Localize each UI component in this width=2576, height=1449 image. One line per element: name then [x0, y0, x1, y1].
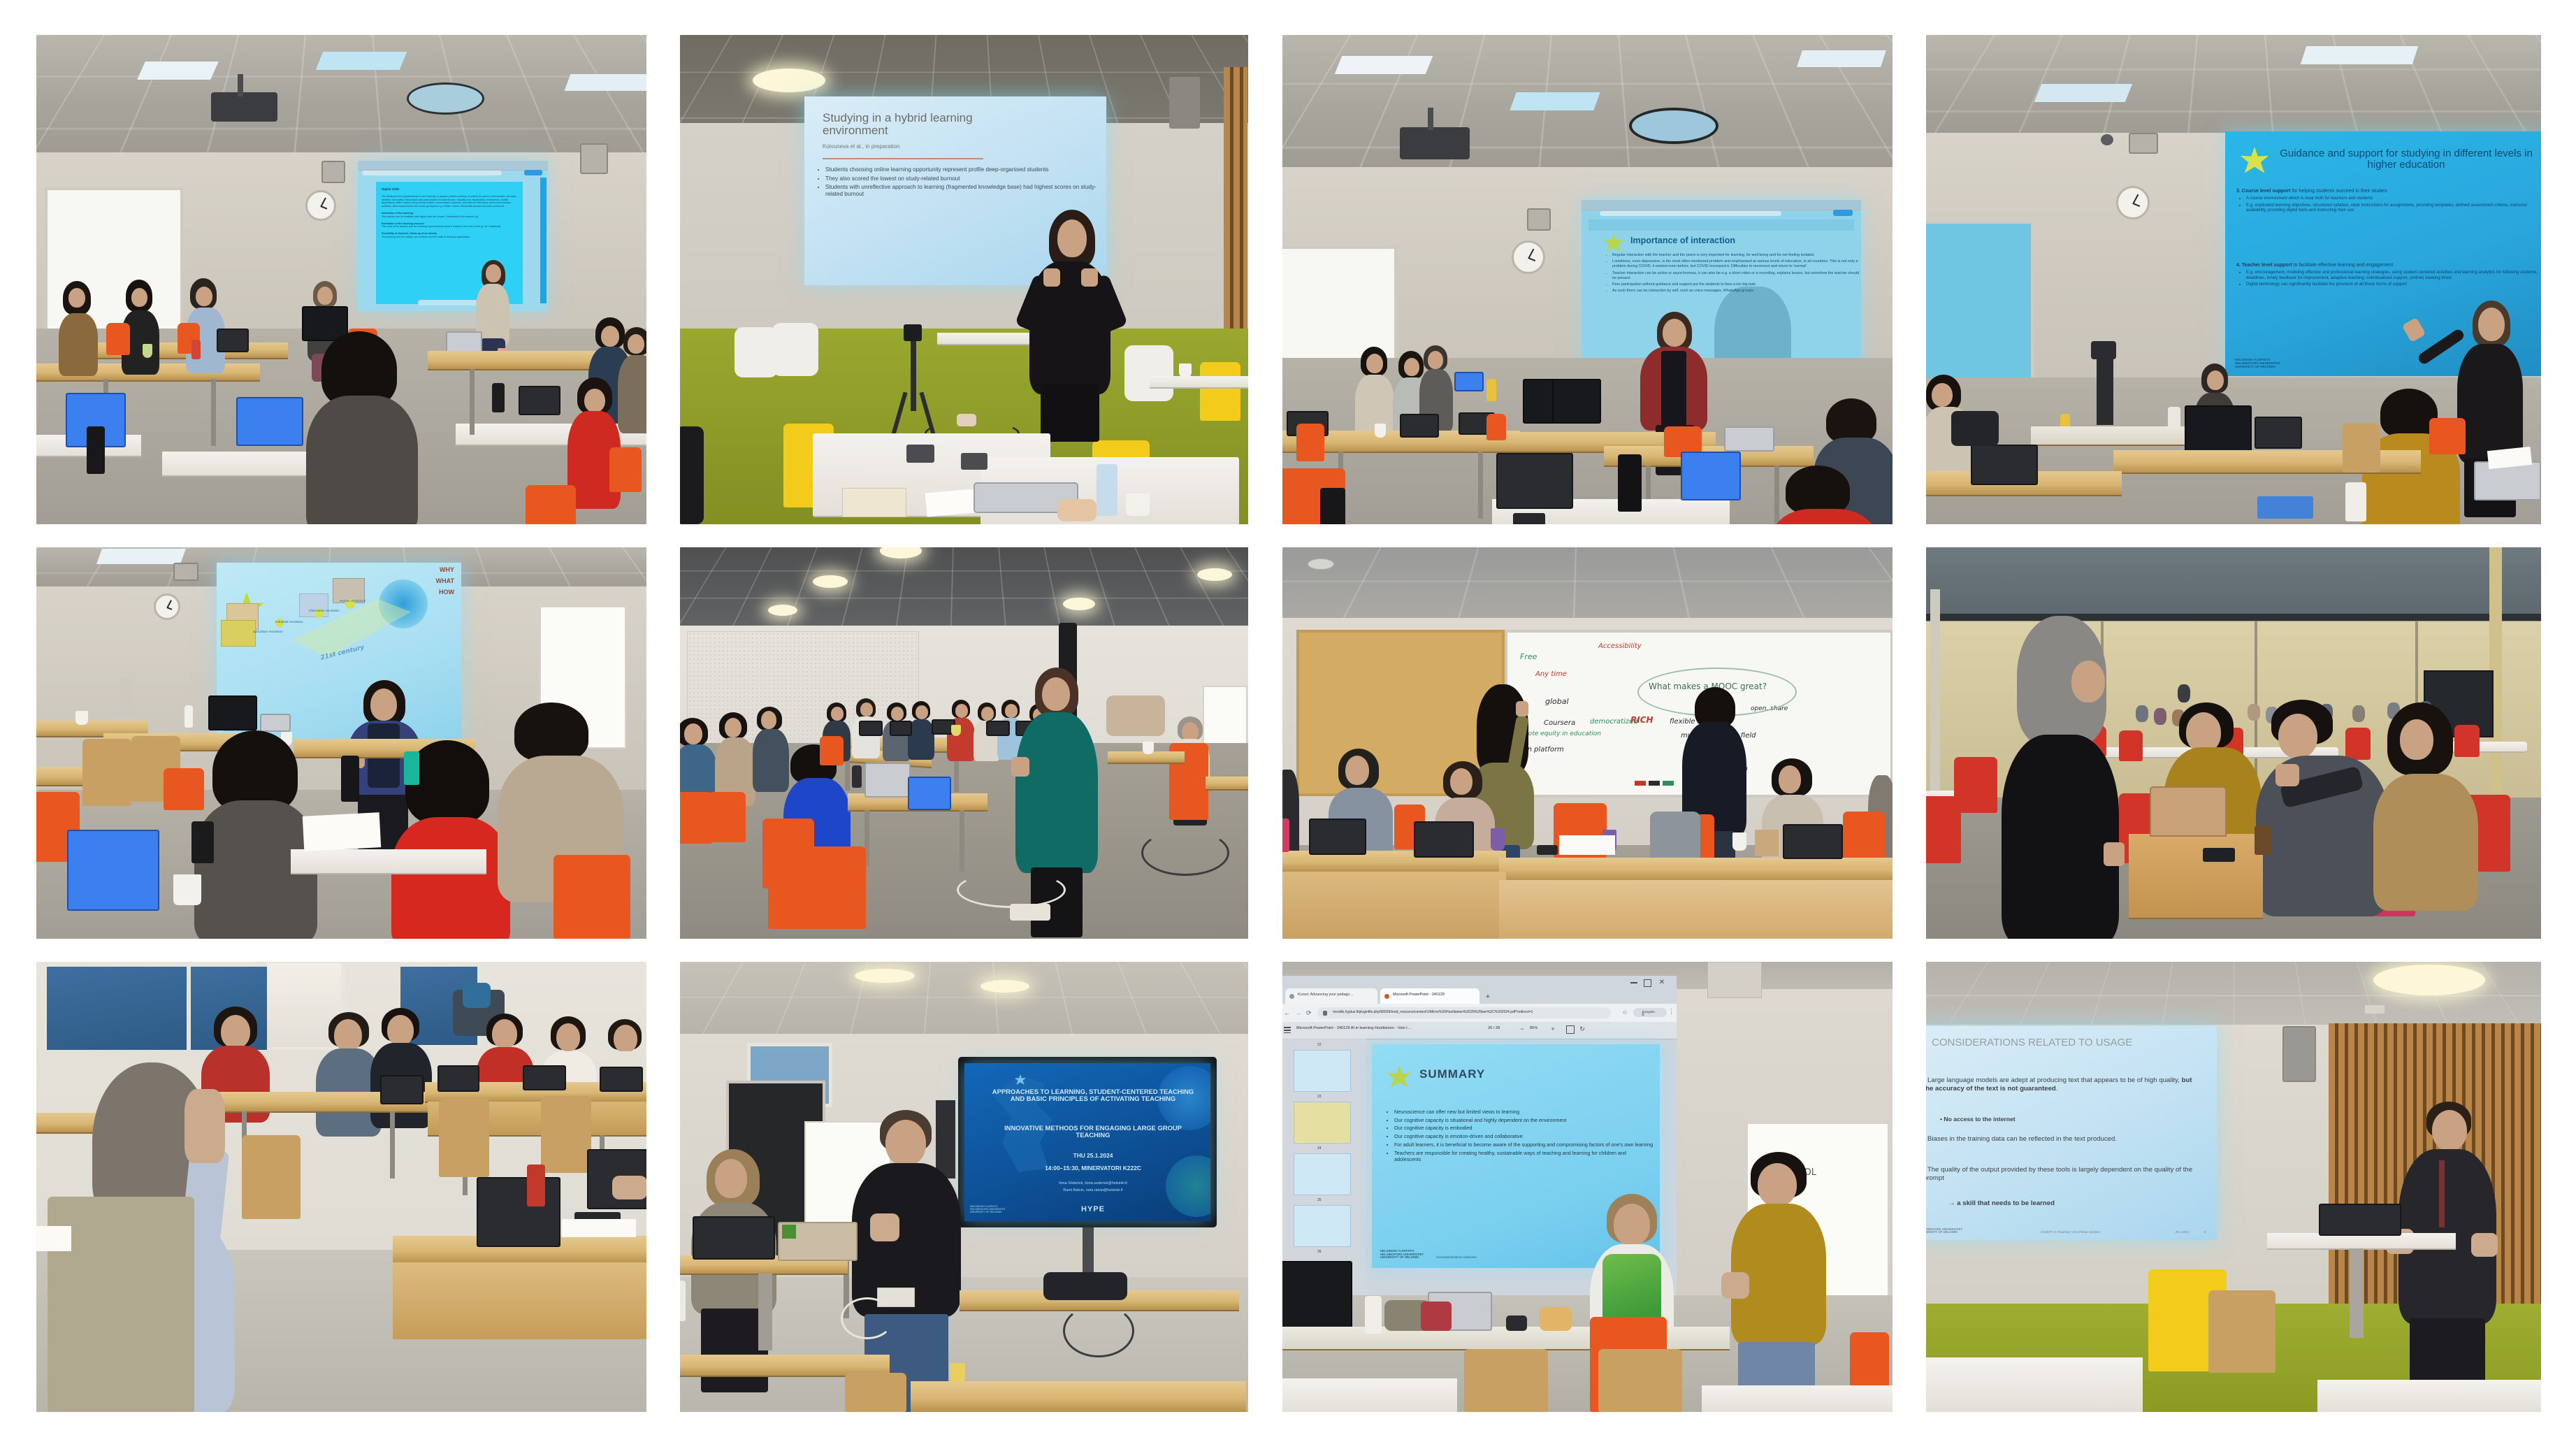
browser-action-button [1833, 210, 1853, 216]
maximize-icon[interactable] [1644, 979, 1651, 987]
photo-cell-r1c3[interactable]: Importance of interaction Regular intera… [1282, 35, 1893, 524]
marker [1649, 781, 1660, 786]
incognito-badge: Incognito [1633, 1008, 1667, 1017]
photo-cell-r1c2[interactable]: Studying in a hybrid learning environmen… [680, 35, 1248, 524]
browser-omnibox [362, 171, 502, 175]
photo-cell-r2c3[interactable]: Free Accessibility Any time global Cours… [1282, 547, 1893, 939]
document-camera [2097, 349, 2113, 425]
ceiling-lamp [768, 605, 797, 616]
zoom-out-button[interactable]: − [1519, 1025, 1526, 1032]
slide-bullet-3: • Biases in the training data can be ref… [1926, 1135, 2203, 1144]
laptop[interactable] [1309, 819, 1366, 855]
chair [1200, 362, 1240, 421]
ceiling-lamp [813, 575, 848, 588]
seated-participant [2373, 702, 2478, 905]
person-edge [680, 426, 704, 524]
chair [526, 485, 576, 524]
crowd-person [2178, 684, 2190, 702]
hybrid-learning-presenter: Studying in a hybrid learning environmen… [680, 35, 1248, 524]
projector-mount [1428, 108, 1433, 130]
whiteboard-note: Free [1520, 652, 1537, 661]
guidance-support-presenter: Guidance and support for studying in dif… [1926, 35, 2541, 524]
slide-title: Studying in a hybrid learning environmen… [823, 112, 1011, 138]
desk-panel [1499, 880, 1893, 939]
cup [1179, 363, 1192, 377]
chair [768, 846, 866, 929]
bookmark-icon[interactable]: ☆ [1622, 1009, 1629, 1016]
slide-bullets: Neuroscience can offer new but limited v… [1382, 1109, 1654, 1165]
download-icon[interactable]: ⤓ [1642, 1009, 1649, 1016]
laptop[interactable] [1783, 824, 1843, 859]
slide-page-number: 9 [2204, 1231, 2206, 1234]
chair [439, 1099, 489, 1177]
wall-clock [305, 190, 336, 221]
scrollbar[interactable] [540, 178, 547, 303]
slide-section-2: 4. Teacher level support to facilitate e… [2236, 263, 2541, 289]
desk-front [1702, 1385, 1893, 1412]
sticker [782, 1225, 796, 1239]
slide-footer-left: HELSINGFORS UNIVERSITET UNIVERSITY OF HE… [1926, 1228, 1962, 1235]
wall-speaker [173, 563, 198, 581]
classroom-raised-hand [36, 962, 646, 1412]
bottle [527, 1165, 545, 1206]
photo-cell-r2c2[interactable] [680, 547, 1248, 939]
participant [1731, 1152, 1826, 1412]
new-tab-button[interactable]: + [1484, 993, 1492, 1001]
cup [1375, 424, 1386, 438]
display-time-place: 14:00–15:30, MINERVATORI K222C [988, 1165, 1198, 1172]
thumb-photo [299, 593, 328, 617]
tab-favicon [1289, 994, 1294, 999]
hype-session-display: APPROACHES TO LEARNING, STUDENT-CENTERED… [680, 962, 1248, 1412]
tablet[interactable] [2257, 496, 2313, 519]
desk-panel [393, 1262, 646, 1339]
chair [1296, 424, 1324, 461]
projector [1400, 127, 1470, 159]
phone [2203, 848, 2235, 862]
ceiling-light [2034, 84, 2133, 102]
crowd-person [2136, 705, 2148, 722]
slide-bullets: Students choosing online learning opport… [814, 166, 1098, 200]
standing-participant [2002, 616, 2119, 937]
ceiling [680, 547, 1248, 633]
pdf-title: Microsoft PowerPoint - 240129 AI in lear… [1296, 1026, 1411, 1030]
laptop[interactable] [67, 830, 159, 911]
slide-section-1: 3. Course level support for helping stud… [2236, 189, 2541, 215]
window [43, 963, 190, 1058]
display-bezel[interactable]: APPROACHES TO LEARNING, STUDENT-CENTERED… [958, 1057, 1217, 1227]
ceiling-lamp [1197, 568, 1232, 581]
cable [841, 1297, 894, 1339]
cable [1063, 1304, 1134, 1357]
cup [1491, 828, 1505, 851]
forward-icon[interactable]: → [1295, 1009, 1302, 1016]
laptop[interactable] [693, 1216, 775, 1260]
zoom-in-button[interactable]: + [1549, 1025, 1556, 1032]
close-icon[interactable]: ✕ [1658, 979, 1665, 986]
photo-cell-r3c1[interactable] [36, 962, 646, 1412]
chair [708, 792, 746, 842]
upper-balcony [1926, 547, 2541, 618]
whiteboard-note: RICH [1630, 715, 1654, 725]
node-label: Human revolution! [340, 599, 366, 603]
section-rest: to facilitate effective learning and eng… [2294, 263, 2394, 268]
cable [957, 872, 1066, 908]
display-presenter: Rami Ratvio, rami.ratvio@helsinki.fi [988, 1189, 1198, 1193]
wall-clock [2116, 186, 2150, 219]
display-brand: HYPE [988, 1206, 1198, 1214]
slide-footer: HELSINGIN YLIOPISTO HELSINGFORS UNIVERSI… [1380, 1250, 1424, 1260]
whiteboard-mooc-brainstorm: Free Accessibility Any time global Cours… [1282, 547, 1893, 939]
browser-tab[interactable]: Microsoft PowerPoint - 240129 [1380, 988, 1479, 1004]
laptop[interactable] [2255, 417, 2302, 449]
corner-label-how: HOW [439, 589, 454, 596]
book [842, 488, 906, 517]
laptop[interactable] [1454, 372, 1484, 391]
pastry [1057, 499, 1097, 521]
wall-speaker [2282, 1026, 2316, 1082]
desk-column [2350, 1248, 2364, 1338]
browser-omnibox [1600, 211, 1781, 216]
ceiling-lamp [753, 69, 825, 92]
cup [173, 874, 201, 905]
bottle [492, 383, 505, 412]
phone [1513, 513, 1545, 524]
laptop[interactable] [1496, 453, 1573, 509]
ceiling-speaker [407, 82, 484, 115]
laptop[interactable] [1400, 414, 1439, 438]
backpack [1650, 812, 1700, 862]
side-table [1206, 777, 1248, 791]
ceiling-light [565, 74, 646, 91]
desk-column [758, 1274, 772, 1350]
cup [951, 725, 961, 736]
cup [1143, 742, 1154, 754]
chair [2429, 418, 2466, 454]
minimize-icon[interactable] [1630, 982, 1637, 983]
desktop-monitor [1282, 1261, 1352, 1329]
thumbnail-number: 24 [1317, 1146, 1322, 1151]
chair [1598, 1349, 1682, 1412]
hand-sanitizer [2345, 482, 2366, 521]
chair [2343, 424, 2380, 473]
document-camera-head [2091, 341, 2116, 359]
laptop[interactable] [217, 329, 249, 352]
wall-speaker [321, 161, 345, 183]
bottle [404, 751, 419, 785]
room-number-sign [2365, 1005, 2385, 1014]
page-thumbnail[interactable] [1294, 1050, 1351, 1092]
photo-cell-r1c1[interactable]: Digital skills The ability and the prepa… [36, 35, 646, 524]
desk-front [2317, 1380, 2541, 1412]
browser-toolbar [358, 161, 548, 171]
desk-row [2031, 426, 2185, 446]
chair [735, 327, 778, 377]
ceiling [1282, 547, 1893, 626]
back-icon[interactable]: ← [1284, 1009, 1291, 1016]
laptop[interactable] [2150, 786, 2227, 837]
wall-clock [154, 593, 180, 620]
snack [1540, 1307, 1572, 1331]
projected-slide: CONSIDERATIONS RELATED TO USAGE • Large … [1926, 1026, 2217, 1240]
chair [2119, 730, 2143, 761]
presenter [2398, 1102, 2496, 1412]
ceiling-light [1797, 50, 1886, 67]
chair [1926, 796, 1961, 863]
marker [1663, 781, 1674, 786]
bottle [1486, 379, 1496, 401]
ceiling-lamp [981, 980, 1029, 993]
chair [106, 323, 130, 355]
desk-front [911, 1381, 1246, 1412]
laptop[interactable] [864, 763, 911, 798]
water-bottle [1097, 464, 1117, 516]
marker [1635, 781, 1646, 786]
bottle [191, 821, 214, 863]
lock-icon [1323, 1011, 1327, 1016]
phone-stand [961, 453, 987, 470]
laptop[interactable] [1724, 426, 1774, 452]
side-screen [1926, 221, 2034, 387]
lecture-room-blue-slide: Digital skills The ability and the prepa… [36, 35, 646, 524]
chair [553, 855, 630, 939]
slide-footer-right: 30.1.2024 [2175, 1231, 2189, 1234]
laptop[interactable] [1971, 445, 2038, 485]
photo-cell-r2c1[interactable]: WHY WHAT HOW agriculture revolution indu… [36, 547, 646, 939]
photo-cell-r2c4[interactable] [1926, 547, 2541, 939]
browser-action-button [524, 170, 542, 175]
cup [1732, 832, 1746, 851]
whiteboard-note: global [1545, 697, 1569, 706]
slide-footer: HELSINGIN YLIOPISTO HELSINGFORS UNIVERSI… [2235, 359, 2280, 369]
ceiling [1926, 35, 2541, 143]
seminar-circle-discussion [680, 547, 1248, 939]
tab-label: Kurssi: Advancing your pedago… [1298, 993, 1370, 997]
why-what-how-presenter: WHY WHAT HOW agriculture revolution indu… [36, 547, 646, 939]
desk-front [1282, 1378, 1457, 1412]
ceiling-lamp [855, 969, 915, 983]
desktop-monitor [1552, 379, 1601, 424]
standing-desk [937, 333, 1035, 345]
smoke-detector [1308, 558, 1334, 570]
laptop[interactable] [519, 386, 560, 415]
sidebar-toggle-icon[interactable] [1284, 1027, 1291, 1033]
laptop[interactable] [523, 1065, 566, 1090]
chair [609, 447, 642, 492]
laptop[interactable] [236, 397, 303, 446]
page-thumbnail[interactable] [1294, 1205, 1351, 1247]
fit-page-icon[interactable] [1566, 1025, 1575, 1034]
photo-cell-r3c2[interactable]: APPROACHES TO LEARNING, STUDENT-CENTERED… [680, 962, 1248, 1412]
lanyard [2439, 1160, 2445, 1227]
ceiling [680, 962, 1248, 1043]
laptop[interactable] [2474, 461, 2541, 500]
photo-cell-r3c4[interactable]: CONSIDERATIONS RELATED TO USAGE • Large … [1926, 962, 2541, 1412]
photo-cell-r3c3[interactable]: ✕ Kurssi: Advancing your pedago… Microso… [1282, 962, 1893, 1412]
slide-title: SUMMARY [1419, 1068, 1485, 1081]
desk-row [1499, 858, 1893, 881]
slide-title: Guidance and support for studying in dif… [2277, 148, 2535, 171]
laptop[interactable] [1681, 452, 1741, 500]
chair [2208, 1290, 2275, 1373]
menu-icon[interactable]: ⋮ [1668, 1008, 1674, 1017]
laptop[interactable] [908, 777, 951, 810]
node-label: industrial revolution [275, 620, 303, 623]
page-thumbnail[interactable] [1294, 1102, 1351, 1144]
laptop[interactable] [600, 1067, 643, 1092]
laptop[interactable] [380, 1075, 424, 1104]
section-rest: for helping students succeed in their st… [2292, 189, 2387, 194]
cafe-table-front [2129, 834, 2263, 919]
reload-icon[interactable]: ⟳ [1306, 1009, 1313, 1016]
camera-body [904, 324, 922, 341]
chair [1464, 1349, 1548, 1412]
desktop-monitor [208, 695, 257, 730]
phone-stand [906, 445, 934, 463]
phone [1537, 845, 1558, 855]
ceiling-light [96, 549, 186, 564]
importance-of-interaction-presenter: Importance of interaction Regular intera… [1282, 35, 1893, 524]
bottle [184, 705, 193, 728]
whiteboard-note: Coursera [1544, 719, 1575, 727]
laptop[interactable] [890, 721, 912, 736]
slide-footer-note: Kasvatustieteellinen tiedekunta [1436, 1256, 1477, 1260]
wall-speaker [2129, 133, 2158, 154]
camera-tripod [911, 336, 916, 411]
browser-tab[interactable]: Kurssi: Advancing your pedago… [1285, 988, 1377, 1004]
laptop[interactable] [437, 1065, 479, 1092]
slide-header-strip [1589, 219, 1854, 231]
papers [303, 812, 381, 851]
bottle [1618, 454, 1642, 512]
photo-collage: Digital skills The ability and the prepa… [0, 0, 2576, 1449]
bottle [1365, 1296, 1382, 1334]
ceiling-light [1510, 92, 1600, 110]
tab-favicon [1384, 994, 1389, 999]
thumbnail-number: 26 [1317, 1250, 1322, 1254]
notebook [1559, 835, 1615, 855]
laptop[interactable] [986, 721, 1010, 736]
display-date: THU 25.1.2024 [988, 1153, 1198, 1159]
page-indicator: 26 / 28 [1488, 1026, 1500, 1030]
desk-front [291, 849, 486, 874]
ceiling-speaker [1629, 108, 1718, 144]
chair [845, 1373, 906, 1412]
chair [82, 739, 131, 806]
participant-foreground [1772, 466, 1876, 524]
node-label: information revolution [309, 609, 340, 612]
coats [1106, 695, 1165, 736]
cup [1126, 493, 1150, 516]
coffee-cup [2255, 826, 2271, 855]
summary-slide-discussion: ✕ Kurssi: Advancing your pedago… Microso… [1282, 962, 1893, 1412]
wall-clock [1512, 240, 1545, 274]
slide-title: CONSIDERATIONS RELATED TO USAGE [1932, 1037, 2162, 1048]
page-thumbnail[interactable] [1294, 1153, 1351, 1195]
bottle [680, 1281, 686, 1321]
clicker [1506, 1315, 1527, 1331]
ceiling-light [1335, 56, 1433, 74]
chair [772, 323, 818, 376]
slide-bullet-2: • No access to the internet [1940, 1116, 2206, 1123]
section-heading: 4. Teacher level support [2236, 263, 2292, 268]
address-text: moodle.hyplus.fi/pluginfile.php/58029/mo… [1333, 1010, 1607, 1014]
paper-bag [1755, 830, 1779, 856]
thumb-photo [221, 620, 256, 647]
bottle [341, 756, 359, 802]
coat [463, 983, 491, 1008]
tab-label: Microsoft PowerPoint - 240129 [1393, 993, 1470, 997]
llm-considerations-presenter: CONSIDERATIONS RELATED TO USAGE • Large … [1926, 962, 2541, 1412]
chair [1124, 345, 1173, 401]
rotate-icon[interactable]: ↻ [1579, 1025, 1586, 1032]
slide-control-bar [418, 300, 481, 305]
divider [823, 158, 983, 159]
bottle [1320, 488, 1345, 524]
atrium-cafe-discussion [1926, 547, 2541, 939]
chair [1486, 414, 1506, 440]
photo-cell-r1c4[interactable]: Guidance and support for studying in dif… [1926, 35, 2541, 524]
cable [1141, 830, 1229, 876]
chair [242, 1135, 301, 1219]
green-burst-icon [1387, 1065, 1411, 1089]
power-strip [1010, 904, 1050, 921]
presenter [1024, 210, 1117, 440]
bottle [852, 765, 862, 788]
participant-foreground [306, 331, 418, 524]
pdf-toolbar [1282, 1022, 1677, 1039]
participant [618, 327, 646, 432]
bottle [191, 340, 201, 359]
green-burst-icon [2241, 147, 2269, 175]
cloth [1043, 1272, 1127, 1300]
chair [820, 736, 844, 765]
earbuds-case [957, 414, 976, 426]
security-camera [2101, 134, 2113, 145]
laptop[interactable] [477, 1177, 560, 1247]
projector [211, 92, 277, 122]
papers [36, 1226, 71, 1251]
bottle [1282, 819, 1289, 852]
wall-panel [1707, 962, 1762, 998]
ceiling-lamp [2373, 965, 2485, 995]
bottle [87, 426, 105, 474]
thumbnail-number: 22 [1317, 1043, 1322, 1047]
hand [612, 1176, 646, 1199]
zoom-level: 85% [1530, 1026, 1537, 1030]
thumbnail-number: 23 [1317, 1095, 1322, 1099]
desk-panel [1282, 872, 1506, 939]
laptop[interactable] [1414, 821, 1474, 858]
whiteboard-note: Any time [1535, 670, 1567, 678]
wall-speaker [580, 143, 608, 174]
ceiling-light [316, 52, 407, 70]
display-line-1: APPROACHES TO LEARNING, STUDENT-CENTERED… [988, 1088, 1198, 1102]
node-label: agriculture revolution [253, 630, 283, 633]
slide-bullet-5: → a skill that needs to be learned [1948, 1199, 2207, 1208]
address-bar[interactable]: moodle.hyplus.fi/pluginfile.php/58029/mo… [1317, 1007, 1611, 1018]
laptop[interactable] [2319, 1204, 2401, 1236]
slide-bullet-1: • Large language models are adept at pro… [1926, 1076, 2203, 1093]
laptop[interactable] [859, 721, 883, 736]
desk-front [1926, 1357, 2143, 1412]
laptop[interactable] [260, 714, 291, 732]
raised-hand [184, 1089, 225, 1163]
wall-speaker [1527, 208, 1551, 231]
slide-text-block: Digital skills The ability and the prepa… [382, 187, 517, 239]
slide-footer-center: ChatGPT in Teaching / Anni Pekka Jonsson [2041, 1231, 2100, 1234]
bag [1421, 1302, 1452, 1331]
